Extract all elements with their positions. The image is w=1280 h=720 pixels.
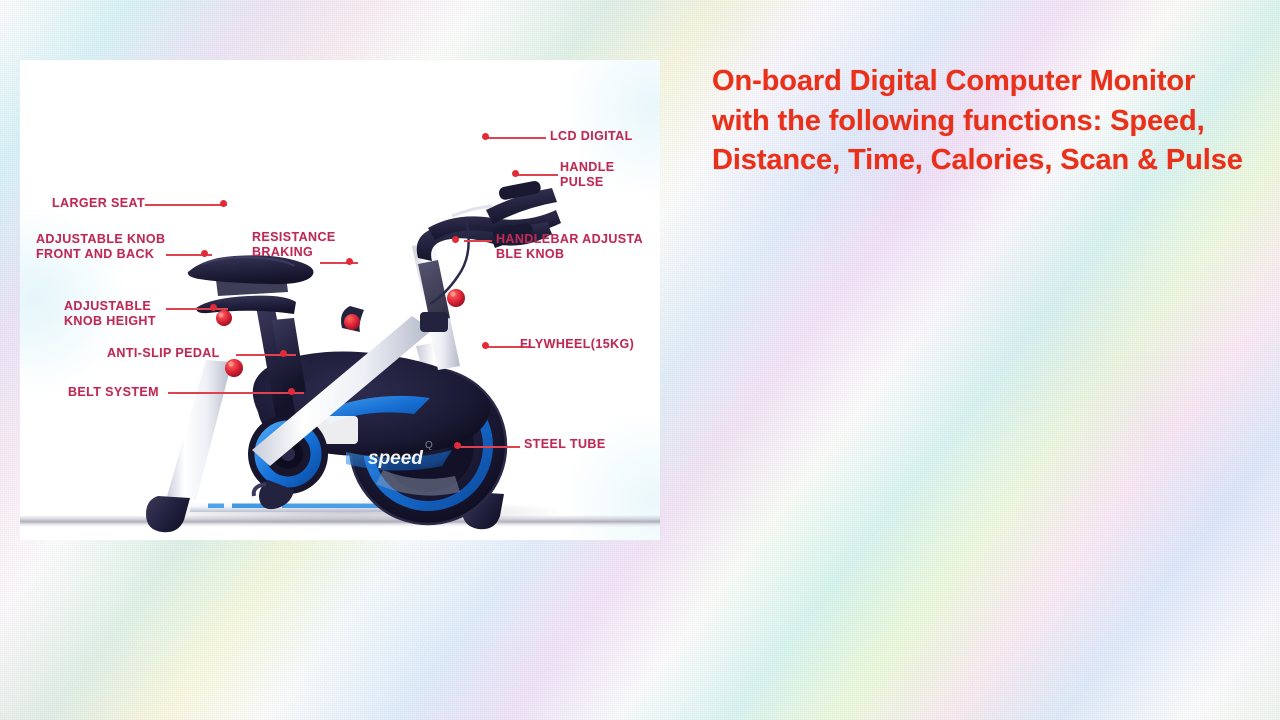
larger-seat: [188, 255, 314, 284]
leader-steel-tube: [460, 446, 520, 448]
callout-larger-seat: LARGER SEAT: [52, 196, 145, 211]
leader-dot-flywheel: [482, 342, 489, 349]
callout-steel-tube: STEEL TUBE: [524, 437, 606, 452]
leader-dot-anti-slip-pedal: [280, 350, 287, 357]
rear-foot: [146, 496, 190, 532]
leader-larger-seat: [145, 204, 227, 206]
callout-lcd-digital: LCD DIGITAL: [550, 129, 633, 144]
leader-anti-slip-pedal: [236, 354, 296, 356]
spin-bike-product-photo: speed Q: [20, 60, 660, 540]
knob-handlebar: [447, 289, 465, 307]
callout-belt-system: BELT SYSTEM: [68, 385, 159, 400]
knob-seat-height: [225, 359, 243, 377]
knob-resistance: [344, 314, 360, 330]
leader-knob-height: [166, 308, 228, 310]
callout-flywheel: FLYWHEEL(15KG): [520, 337, 634, 352]
callout-adjustable-knob-front-and-back: ADJUSTABLE KNOB FRONT AND BACK: [36, 232, 165, 262]
callout-adjustable-knob-height: ADJUSTABLE KNOB HEIGHT: [64, 299, 156, 329]
leader-lcd-digital: [488, 137, 546, 139]
svg-text:Q: Q: [425, 440, 433, 451]
leader-handlebar-knob: [464, 240, 492, 242]
leader-dot-handle-pulse: [512, 170, 519, 177]
svg-text:speed: speed: [368, 448, 423, 469]
leader-dot-knob-height: [210, 304, 217, 311]
leader-dot-resistance-braking: [346, 258, 353, 265]
marketing-copy-text: On-board Digital Computer Monitor with t…: [712, 62, 1252, 181]
callout-resistance-braking: RESISTANCE BRAKING: [252, 230, 336, 260]
callout-anti-slip-pedal: ANTI-SLIP PEDAL: [107, 346, 220, 361]
leader-dot-adjustable-knob-fb: [201, 250, 208, 257]
leader-dot-larger-seat: [220, 200, 227, 207]
leader-dot-belt-system: [288, 388, 295, 395]
leader-dot-lcd-digital: [482, 133, 489, 140]
knob-seat-post-clamp: [216, 310, 232, 326]
leader-dot-handlebar-knob: [452, 236, 459, 243]
callout-handlebar-adjustable-knob: HANDLEBAR ADJUSTA BLE KNOB: [496, 232, 643, 262]
leader-belt-system: [168, 392, 304, 394]
leader-dot-steel-tube: [454, 442, 461, 449]
callout-handle-pulse: HANDLE PULSE: [560, 160, 614, 190]
leader-handle-pulse: [518, 174, 558, 176]
